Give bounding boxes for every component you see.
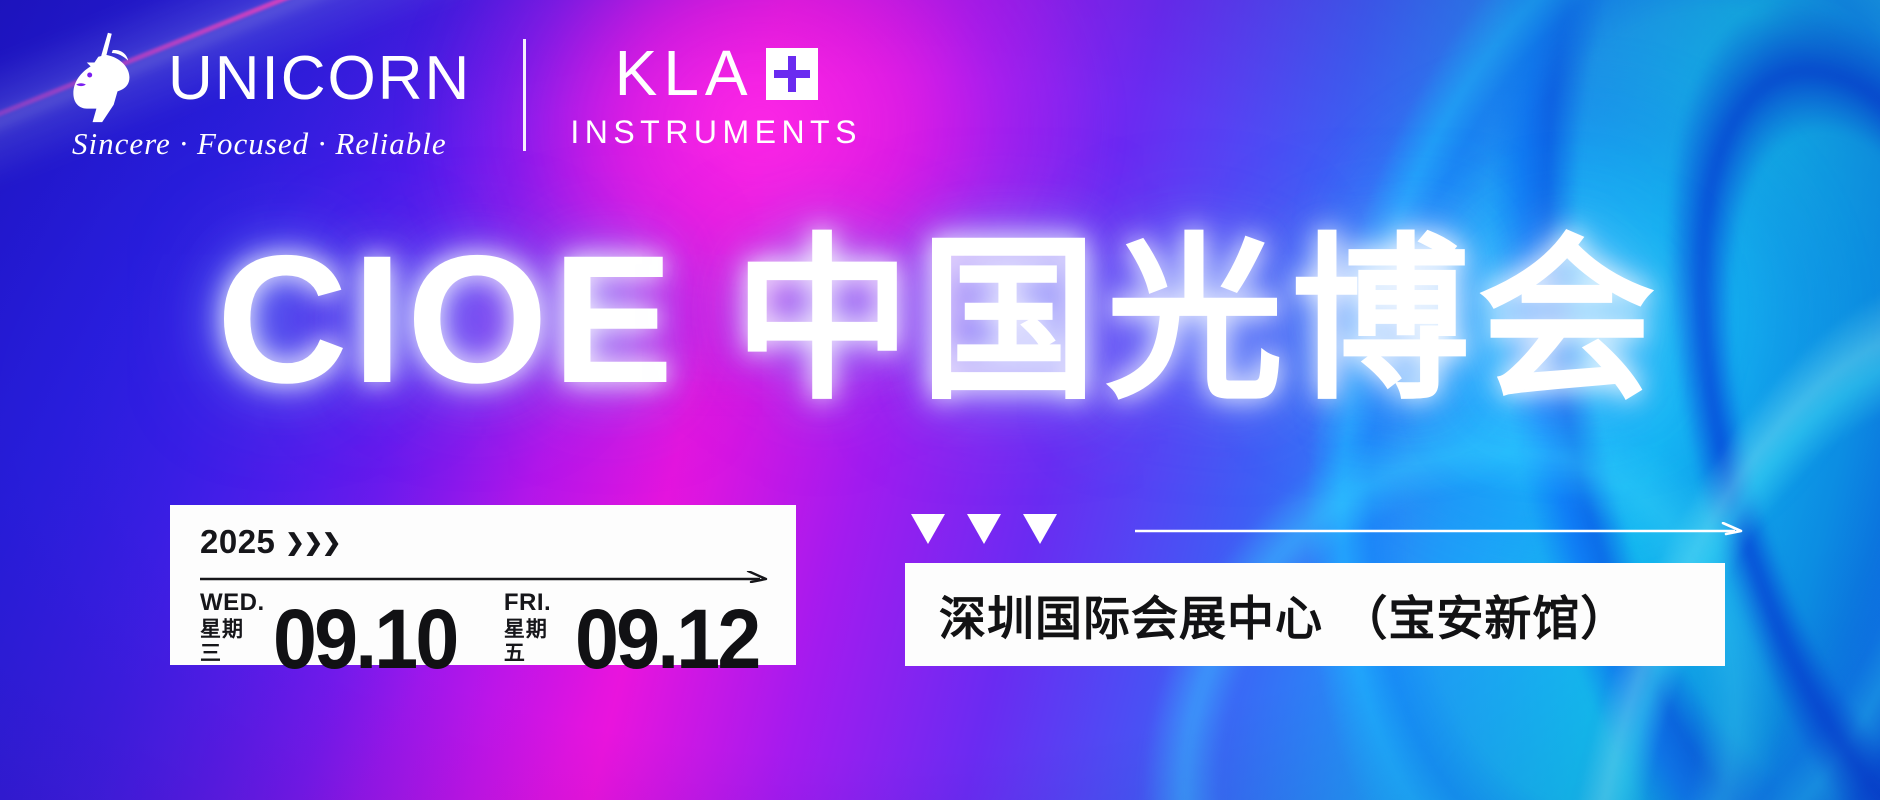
date-entry-first: WED. 星期三 09.10 (200, 589, 468, 677)
cioe-promo-banner: UNICORN Sincere · Focused · Reliable KLA… (0, 0, 1880, 800)
triangle-down-icon (967, 514, 1001, 544)
unicorn-logo: UNICORN Sincere · Focused · Reliable (58, 28, 471, 162)
kla-logo: KLA INSTRUMENTS (570, 43, 862, 151)
date-year: 2025 (200, 523, 275, 561)
logo-divider (523, 39, 526, 151)
date-dow-cn: 星期三 (200, 617, 265, 665)
venue-name: 深圳国际会展中心 （宝安新馆） (939, 580, 1628, 649)
headline: CIOE 中国光博会 (0, 228, 1880, 410)
triangle-down-icon (911, 514, 945, 544)
date-values: WED. 星期三 09.10 FRI. 星期五 09.12 (200, 589, 770, 677)
logo-bar: UNICORN Sincere · Focused · Reliable KLA… (58, 28, 862, 162)
venue-group: 深圳国际会展中心 （宝安新馆） (905, 505, 1745, 666)
venue-card: 深圳国际会展中心 （宝安新馆） (905, 563, 1725, 666)
kla-subtitle: INSTRUMENTS (570, 114, 862, 151)
right-arrow-icon (200, 571, 770, 583)
kla-logo-row: KLA (615, 43, 818, 104)
plus-square-icon (766, 48, 818, 100)
arrow-line-icon (1135, 522, 1745, 536)
date-card: 2025 ❯❯❯ WED. 星期三 09.10 FRI. 星期五 (170, 505, 796, 665)
triangle-down-icon (1023, 514, 1057, 544)
date-number: 09.12 (575, 603, 759, 677)
date-entry-second-labels: FRI. 星期五 (504, 589, 567, 677)
headline-english: CIOE (217, 228, 678, 410)
triangle-down-icon-group (911, 514, 1057, 544)
headline-chinese: 中国光博会 (733, 232, 1663, 410)
unicorn-head-icon (58, 28, 154, 124)
date-dow-en: WED. (200, 589, 265, 617)
chevrons-right-icon: ❯❯❯ (285, 529, 340, 556)
unicorn-tagline: Sincere · Focused · Reliable (72, 126, 447, 162)
date-number: 09.10 (273, 603, 457, 677)
date-entry-first-labels: WED. 星期三 (200, 589, 265, 677)
date-year-row: 2025 ❯❯❯ (200, 523, 770, 561)
date-dow-cn: 星期五 (504, 617, 567, 665)
unicorn-logo-row: UNICORN (58, 28, 471, 124)
date-dow-en: FRI. (504, 589, 551, 617)
unicorn-wordmark: UNICORN (168, 48, 471, 110)
date-entry-second: FRI. 星期五 09.12 (504, 589, 770, 677)
kla-wordmark: KLA (615, 43, 754, 104)
venue-decoration-row (905, 505, 1745, 553)
